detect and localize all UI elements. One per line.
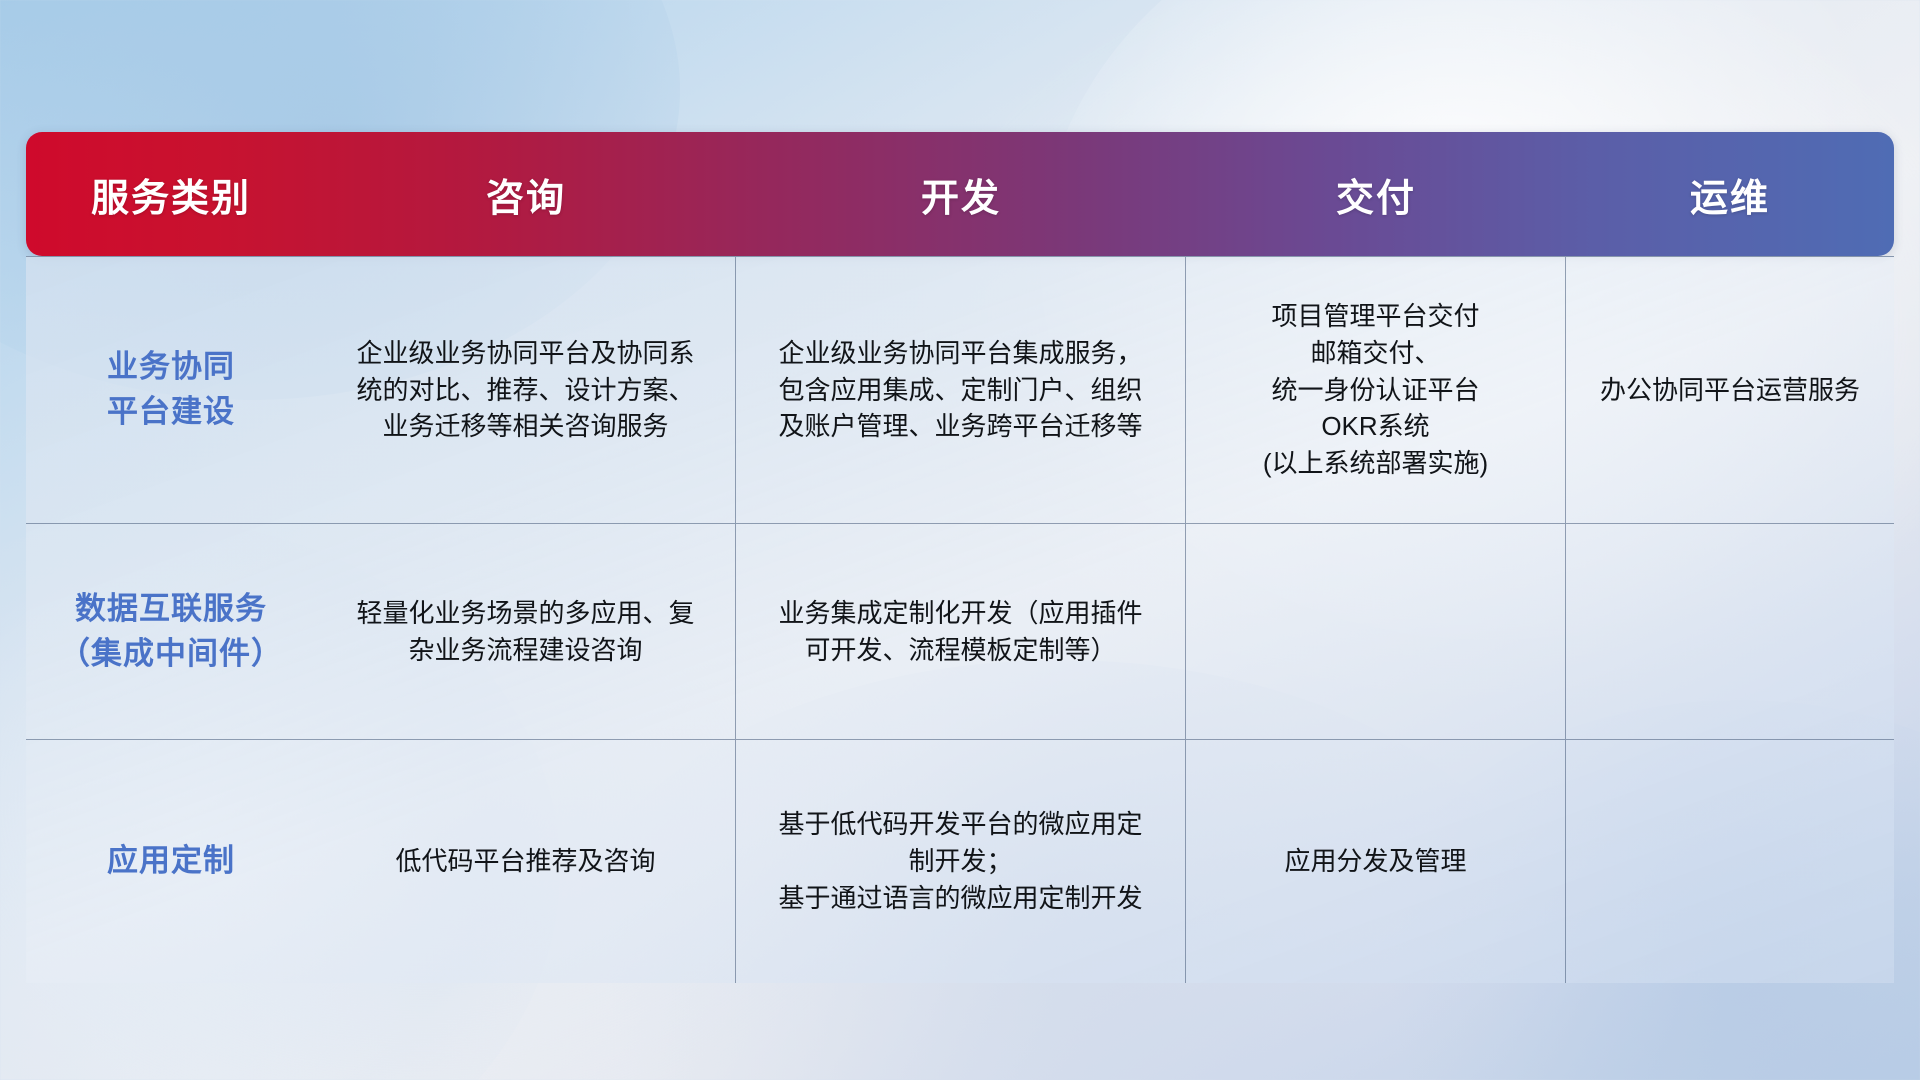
cell-development-row2: 业务集成定制化开发（应用插件 可开发、流程模板定制等） [736, 524, 1186, 739]
cell-operations-row2 [1566, 524, 1894, 739]
cell-operations-row3 [1566, 740, 1894, 983]
slide-canvas: 服务类别 咨询 开发 交付 运维 业务协同 平台建设 企业级业务协同平台及协同系… [0, 0, 1920, 1080]
column-header-operations: 运维 [1566, 132, 1894, 256]
cell-delivery-row1: 项目管理平台交付 邮箱交付、 统一身份认证平台 OKR系统 (以上系统部署实施) [1186, 257, 1566, 523]
table-row: 业务协同 平台建设 企业级业务协同平台及协同系 统的对比、推荐、设计方案、 业务… [26, 257, 1894, 524]
table-row: 应用定制 低代码平台推荐及咨询 基于低代码开发平台的微应用定 制开发； 基于通过… [26, 740, 1894, 983]
column-header-consulting: 咨询 [316, 132, 736, 256]
cell-operations-row1: 办公协同平台运营服务 [1566, 257, 1894, 523]
cell-development-row1: 企业级业务协同平台集成服务， 包含应用集成、定制门户、组织 及账户管理、业务跨平… [736, 257, 1186, 523]
service-matrix-table: 服务类别 咨询 开发 交付 运维 业务协同 平台建设 企业级业务协同平台及协同系… [26, 132, 1894, 983]
column-header-delivery: 交付 [1186, 132, 1566, 256]
table-header-row: 服务类别 咨询 开发 交付 运维 [26, 132, 1894, 256]
cell-consulting-row3: 低代码平台推荐及咨询 [316, 740, 736, 983]
column-header-category: 服务类别 [26, 132, 316, 256]
row-label-data-integration: 数据互联服务 （集成中间件） [26, 524, 316, 739]
row-label-application-customization: 应用定制 [26, 740, 316, 983]
cell-delivery-row3: 应用分发及管理 [1186, 740, 1566, 983]
cell-development-row3: 基于低代码开发平台的微应用定 制开发； 基于通过语言的微应用定制开发 [736, 740, 1186, 983]
cell-consulting-row1: 企业级业务协同平台及协同系 统的对比、推荐、设计方案、 业务迁移等相关咨询服务 [316, 257, 736, 523]
cell-delivery-row2 [1186, 524, 1566, 739]
cell-consulting-row2: 轻量化业务场景的多应用、复 杂业务流程建设咨询 [316, 524, 736, 739]
column-header-development: 开发 [736, 132, 1186, 256]
row-label-business-collaboration: 业务协同 平台建设 [26, 257, 316, 523]
table-body: 业务协同 平台建设 企业级业务协同平台及协同系 统的对比、推荐、设计方案、 业务… [26, 256, 1894, 983]
table-row: 数据互联服务 （集成中间件） 轻量化业务场景的多应用、复 杂业务流程建设咨询 业… [26, 524, 1894, 740]
